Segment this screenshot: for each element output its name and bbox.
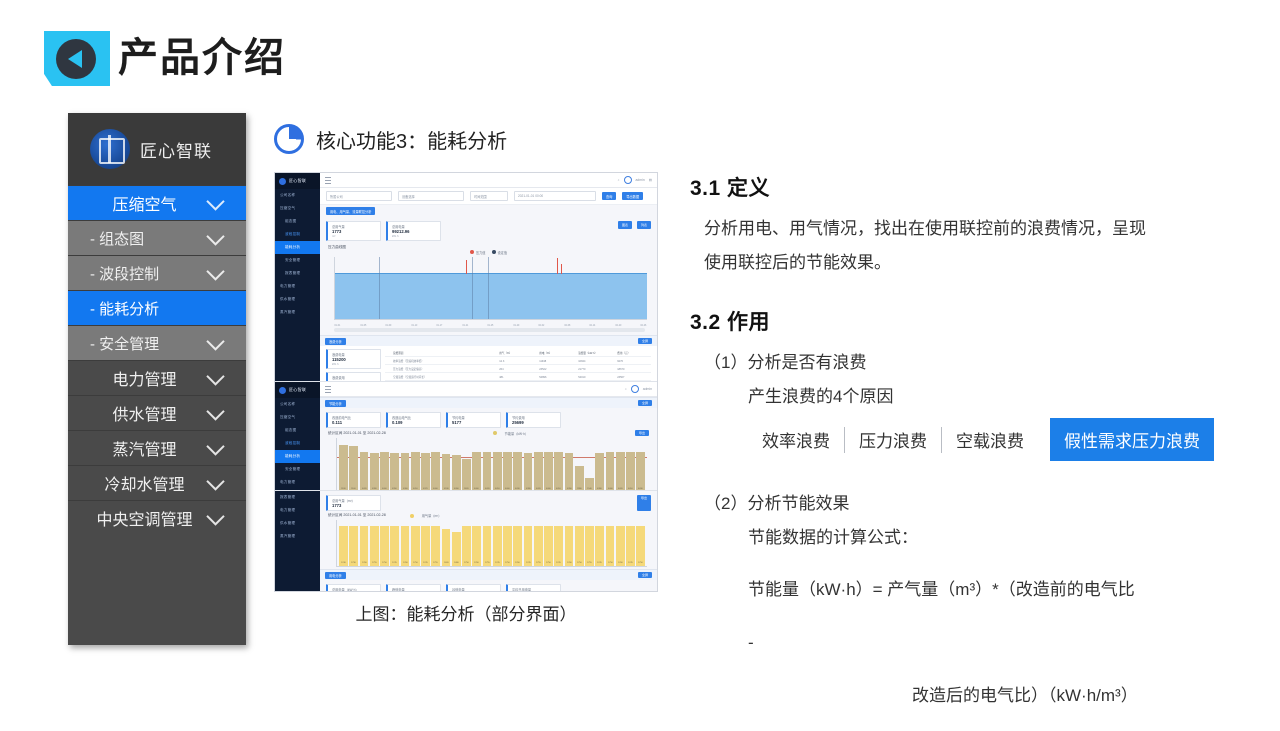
bar-value-label: 4420	[616, 487, 623, 490]
definition-line-1: 分析用电、用气情况，找出在使用联控前的浪费情况，呈现	[690, 212, 1250, 246]
app-nav-brand-label: 匠心智联	[289, 178, 306, 184]
bar: 1730	[349, 526, 358, 566]
bar-value-label: 5160	[350, 487, 357, 490]
bar-value-label: 4410	[411, 487, 418, 490]
user-label: admin	[636, 178, 645, 182]
waste-reason-idle[interactable]: 空载浪费	[942, 427, 1038, 452]
bar: 4400	[544, 452, 553, 491]
chevron-down-icon	[206, 472, 224, 490]
page-title: 产品介绍	[118, 33, 286, 83]
kpi-unit: m³	[332, 234, 376, 238]
waste-reason-false-demand[interactable]: 假性需求压力浪费	[1050, 418, 1214, 461]
company-select[interactable]: 所属公司	[326, 191, 392, 201]
bar: 4430	[513, 452, 522, 491]
sidebar-item-label: - 安全管理	[90, 333, 209, 354]
area-series	[335, 273, 647, 319]
column-header: 浪费原因	[389, 351, 490, 355]
power-section-tag[interactable]: 用电分析	[325, 572, 346, 579]
search-icon[interactable]: ⌕	[625, 387, 627, 391]
bar: 4400	[431, 452, 440, 491]
chevron-down-icon	[206, 262, 224, 280]
bar-value-label: 4380	[370, 487, 377, 490]
bar: 4410	[493, 452, 502, 491]
app-logo-icon	[279, 178, 286, 185]
kpi-card: 平均日用电量 29866	[506, 584, 561, 592]
app-nav-item[interactable]: 报表管理	[275, 491, 320, 504]
bar: 4420	[616, 452, 625, 491]
bar-value-label: 4400	[545, 487, 552, 490]
kpi-title: 平均日用电量	[512, 587, 556, 592]
sidebar-item-safety[interactable]: - 安全管理	[68, 325, 246, 360]
bar-value-label: 1745	[524, 561, 531, 564]
bar: 4410	[411, 452, 420, 491]
bar-value-label: 1750	[463, 561, 470, 564]
purpose-item-2-sub: 节能数据的计算公式：	[690, 521, 1250, 555]
formula-line-1: 节能量（kW·h）= 产气量（m³）*（改造前的电气比	[690, 572, 1250, 608]
kpi-card: 峰值电量 272	[386, 584, 441, 592]
waste-reason-pressure[interactable]: 压力浪费	[845, 427, 941, 452]
app-logo-icon	[279, 387, 286, 394]
chart-range-label: 统计区间 2021-01-01 至 2021-02-28	[328, 513, 386, 518]
saving-fullscreen-button[interactable]: 全屏	[638, 400, 652, 406]
bar-value-label: 4370	[422, 487, 429, 490]
waste-fullscreen-button[interactable]: 全屏	[638, 338, 652, 344]
kpi-card: 节约电量 5177	[446, 412, 501, 428]
bar-value-label: 1745	[596, 561, 603, 564]
section-heading-label: 核心功能3：能耗分析	[316, 125, 507, 154]
bar: 1750	[606, 526, 615, 566]
app-nav-item[interactable]: 组态图	[275, 215, 320, 228]
query-button[interactable]: 查询	[602, 192, 616, 200]
bar-value-label: 4400	[504, 487, 511, 490]
bar: 1750	[636, 526, 645, 566]
app-nav-item[interactable]: 供水管理	[275, 293, 320, 306]
bar-value-label: 1745	[493, 561, 500, 564]
avatar[interactable]	[631, 385, 639, 393]
kpi-card: 浪费费用 77654 元	[326, 372, 381, 382]
bar: 1745	[390, 526, 399, 566]
bar-value-label: 4430	[637, 487, 644, 490]
bar-value-label: 1745	[391, 561, 398, 564]
screenshot-pane-top: 匠心智联 公司名称 压缩空气 组态图 波段控制 能耗分析 安全管理 报表管理 电…	[275, 173, 657, 382]
search-icon[interactable]: ⌕	[618, 178, 620, 182]
kpi-card: 浪费电量 115200 kW·h	[326, 349, 381, 369]
kpi-value: 0.111	[332, 420, 376, 425]
bar: 4420	[360, 452, 369, 491]
saving-section-header: 节能分析 全屏	[320, 397, 657, 408]
power-section-header: 用电分析 全屏	[320, 569, 657, 580]
pressure-area-chart	[334, 257, 647, 320]
bar-value-label: 1740	[340, 561, 347, 564]
bar: 1755	[483, 526, 492, 566]
bar-value-label: 1760	[514, 561, 521, 564]
chevron-down-icon	[206, 367, 224, 385]
bar-value-label: 4400	[473, 487, 480, 490]
kpi-value: 1773	[332, 503, 376, 508]
app-nav-item[interactable]: 安全管理	[275, 463, 320, 476]
bar: 4180	[442, 454, 451, 491]
bar-value-label: 4380	[524, 487, 531, 490]
chart-title: 压力曲线图	[320, 243, 657, 250]
waste-reason-row: 效率浪费 压力浪费 空载浪费 假性需求压力浪费	[690, 418, 1250, 461]
kpi-card: 谷值电量 5994	[446, 584, 501, 592]
bar: 5160	[349, 446, 358, 491]
section-heading: 核心功能3：能耗分析	[274, 124, 507, 154]
gas-usage-bar-chart: 1740173017601755175017451760175017451755…	[336, 520, 647, 567]
app-nav-item[interactable]: 公司名称	[275, 398, 320, 411]
bar: 1620	[442, 529, 451, 566]
bar-value-label: 4400	[606, 487, 613, 490]
bar-value-label: 1755	[586, 561, 593, 564]
app-nav-item[interactable]: 波段控制	[275, 437, 320, 450]
waste-section-tag[interactable]: 浪费分析	[325, 338, 346, 345]
kpi-unit: kW·h	[392, 234, 436, 238]
bar-value-label: 1760	[565, 561, 572, 564]
kpi-row-5: 总用电量（kW·h） 11200 峰值电量 272 谷值电量 5994 平均日用…	[320, 580, 657, 592]
sidebar-item-band-control[interactable]: - 波段控制	[68, 255, 246, 290]
purpose-item-1-sub: 产生浪费的4个原因	[690, 380, 1250, 414]
bar: 1760	[472, 526, 481, 566]
bar-value-label: 1745	[555, 561, 562, 564]
avatar[interactable]	[624, 176, 632, 184]
kpi-card: 总用气量 1773 m³	[326, 221, 381, 241]
bar: 4400	[503, 452, 512, 491]
bar-value-label: 4430	[514, 487, 521, 490]
bar: 1760	[565, 526, 574, 566]
bar-value-label: 1750	[504, 561, 511, 564]
app-nav-item-selected[interactable]: 能耗分析	[275, 241, 320, 254]
bar: 4380	[595, 453, 604, 491]
bar: 1745	[554, 526, 563, 566]
sidebar-brand-label: 匠心智联	[140, 137, 212, 162]
sidebar-item-label: - 组态图	[90, 228, 209, 249]
kpi-value: 5177	[452, 420, 496, 425]
bar-value-label: 1745	[627, 561, 634, 564]
bar: 1760	[513, 526, 522, 566]
bar: 1745	[421, 526, 430, 566]
purpose-item-2: （2）分析节能效果	[690, 487, 1250, 521]
saving-section-tag[interactable]: 节能分析	[325, 400, 346, 407]
bar-value-label: 1755	[370, 561, 377, 564]
bar-value-label: 1760	[360, 561, 367, 564]
bar: 4370	[421, 453, 430, 491]
bar-value-label: 1760	[401, 561, 408, 564]
bar: 1750	[575, 526, 584, 566]
bar: 4400	[606, 452, 615, 491]
app-body: 总用气量（m³） 1773 导出 统计区间 2021-01-01 至 2021-…	[320, 491, 657, 592]
bar: 1755	[534, 526, 543, 566]
energy-analysis-screenshot: 匠心智联 公司名称 压缩空气 组态图 波段控制 能耗分析 安全管理 报表管理 电…	[274, 172, 658, 592]
kpi-row-3b: 改造前电气比 0.111 改造后电气比 0.109 节约电量 5177 节约费用…	[320, 408, 657, 430]
bar-value-label: 4420	[534, 487, 541, 490]
chevron-down-icon	[206, 402, 224, 420]
bar-value-label: 4400	[381, 487, 388, 490]
kpi-card: 总用气量（m³） 1773	[326, 495, 381, 511]
app-nav-item[interactable]: 电力管理	[275, 476, 320, 489]
chart-toggle-button-b[interactable]: 列表	[637, 221, 651, 229]
app-nav-item[interactable]: 报表管理	[275, 267, 320, 280]
bar: 4410	[626, 452, 635, 491]
pie-chart-icon	[274, 124, 304, 154]
chart-export-button[interactable]: 导出	[637, 495, 651, 511]
bar-value-label: 1760	[616, 561, 623, 564]
kpi-card: 节约费用 25699	[506, 412, 561, 428]
bar: 2880	[575, 466, 584, 491]
table-row: 效率浪费（压缩机效率低） 12.3 11948 10844 9276	[385, 357, 651, 365]
kpi-card: 改造后电气比 0.109	[386, 412, 441, 428]
sidebar-item-label: - 能耗分析	[90, 298, 230, 319]
bar: 1745	[626, 526, 635, 566]
table-row: 压力浪费（压力设定偏高） 264 23522 21770 18670	[385, 365, 651, 373]
bar-value-label: 1755	[534, 561, 541, 564]
bar-value-label: 4420	[360, 487, 367, 490]
brand-logo-icon	[90, 129, 130, 169]
screenshot-caption: 上图：能耗分析（部分界面）	[274, 600, 658, 625]
sidebar-item-label: 中央空调管理	[86, 506, 209, 530]
bar: 1760	[360, 526, 369, 566]
sidebar-item-label: 冷却水管理	[86, 471, 209, 495]
formula-line-2: -	[690, 625, 1250, 661]
screenshot-pane-bottom: 报表管理 电力管理 供水管理 蒸汽管理 总用气量（m³） 1773 导出 统计区…	[275, 491, 657, 592]
bar: 1755	[431, 526, 440, 566]
back-badge[interactable]	[44, 31, 110, 86]
bar-value-label: 4400	[432, 487, 439, 490]
bar-value-label: 4390	[391, 487, 398, 490]
sidebar-item-label: 供水管理	[86, 401, 209, 425]
bar: 1750	[411, 526, 420, 566]
kpi-card: 总用电量（kW·h） 11200	[326, 584, 381, 592]
sidebar-item-cooling-water[interactable]: 冷却水管理	[68, 465, 246, 500]
sidebar-item-hvac[interactable]: 中央空调管理	[68, 500, 246, 535]
bar: 1760	[616, 526, 625, 566]
content-column: 3.1 定义 分析用电、用气情况，找出在使用联控前的浪费情况，呈现 使用联控后的…	[690, 172, 1250, 731]
bar-value-label: 1750	[411, 561, 418, 564]
app-nav-item[interactable]: 压缩空气	[275, 202, 320, 215]
bar: 1540	[585, 478, 594, 491]
bell-icon[interactable]: ▤	[649, 178, 652, 182]
app-nav-brand-label: 匠心智联	[289, 387, 306, 393]
power-fullscreen-button[interactable]: 全屏	[638, 572, 652, 578]
heading-definition: 3.1 定义	[690, 172, 1250, 202]
bar: 4420	[483, 452, 492, 491]
bar-value-label: 4410	[493, 487, 500, 490]
bar-value-label: 4090	[452, 487, 459, 490]
sidebar-item-label: 压缩空气	[86, 191, 209, 215]
app-nav-item[interactable]: 电力管理	[275, 280, 320, 293]
app-nav-item[interactable]: 公司名称	[275, 189, 320, 202]
bar: 1745	[524, 526, 533, 566]
chart-legend: 压力值 设定值	[320, 250, 657, 255]
bar: 5180	[339, 445, 348, 491]
bar: 4380	[370, 453, 379, 491]
bar-value-label: 4420	[483, 487, 490, 490]
waste-table: 浪费原因 用气（%） 用电（%） 浪费量（kW·h） 费用（元） 效率浪费（压缩…	[385, 349, 651, 382]
app-nav: 匠心智联 公司名称 压缩空气 组态图 波段控制 能耗分析 安全管理 报表管理 电…	[275, 173, 320, 381]
bar: 4410	[554, 452, 563, 491]
app-nav-item[interactable]: 电力管理	[275, 504, 320, 517]
user-label: admin	[643, 387, 652, 391]
app-nav-item[interactable]: 组态图	[275, 424, 320, 437]
kpi-unit: kW·h	[332, 362, 376, 366]
heading-purpose: 3.2 作用	[690, 306, 1250, 336]
bar: 4360	[401, 453, 410, 491]
bar: 4390	[565, 453, 574, 492]
chart-toggle-button-a[interactable]: 图表	[618, 221, 632, 229]
bar-value-label: 1480	[452, 561, 459, 564]
sidebar-item-power[interactable]: 电力管理	[68, 360, 246, 395]
chevron-down-icon	[206, 192, 224, 210]
kpi-row-4: 总用气量（m³） 1773 导出	[320, 491, 657, 513]
bar-value-label: 2880	[575, 487, 582, 490]
x-axis-ticks: 01-0101-0501-09 01-1301-1701-21 01-2501-…	[320, 323, 657, 327]
bar-value-label: 1750	[637, 561, 644, 564]
bar-value-label: 1620	[442, 561, 449, 564]
table-row: 空载浪费（空载运行时间长） 481 54896 54010 23567	[385, 373, 651, 381]
bar: 1745	[493, 526, 502, 566]
app-nav-item-selected[interactable]: 能耗分析	[275, 450, 320, 463]
sidebar-item-compressed-air[interactable]: 压缩空气	[68, 185, 246, 220]
sidebar-brand: 匠心智联	[68, 113, 246, 185]
bar-value-label: 4180	[442, 487, 449, 490]
column-header: 用电（%）	[535, 351, 571, 355]
app-nav-brand: 匠心智联	[275, 173, 320, 189]
waste-section-header: 浪费分析 全屏	[320, 335, 657, 346]
app-nav: 匠心智联 公司名称 压缩空气 组态图 波段控制 能耗分析 安全管理 电力管理 供…	[275, 382, 320, 490]
bar: 4390	[390, 453, 399, 492]
device-select[interactable]: 设备选择	[398, 191, 464, 201]
screenshot-pane-middle: 匠心智联 公司名称 压缩空气 组态图 波段控制 能耗分析 安全管理 电力管理 供…	[275, 382, 657, 491]
bar: 1745	[595, 526, 604, 566]
bar-value-label: 4410	[627, 487, 634, 490]
bar: 1480	[452, 532, 461, 566]
chart-legend: 节能量（kW·h）	[493, 431, 528, 436]
purpose-item-1: （1）分析是否有浪费	[690, 346, 1250, 380]
bar: 4400	[380, 452, 389, 491]
date-range-input[interactable]: 2021-01-01 00:00	[514, 191, 596, 201]
definition-line-2: 使用联控后的节能效果。	[690, 246, 1250, 280]
app-nav-item[interactable]: 供水管理	[275, 517, 320, 530]
kpi-title: 峰值电量	[392, 587, 436, 592]
legend-item: 设定值	[492, 250, 508, 255]
export-button[interactable]: 导出数据	[622, 192, 643, 200]
sidebar-item-scada[interactable]: - 组态图	[68, 220, 246, 255]
app-nav-item[interactable]: 安全管理	[275, 254, 320, 267]
sidebar-item-label: 电力管理	[86, 366, 209, 390]
bar-value-label: 4380	[596, 487, 603, 490]
sidebar-item-label: - 波段控制	[90, 263, 209, 284]
app-body: ⌕ admin 节能分析 全屏 改造前电气比 0.111 改造后电气比 0.10…	[320, 382, 657, 490]
kpi-title: 谷值电量	[452, 587, 496, 592]
bar: 1750	[503, 526, 512, 566]
sidebar-item-steam[interactable]: 蒸汽管理	[68, 430, 246, 465]
column-header: 用气（%）	[496, 351, 532, 355]
saving-bar-chart: 5180516044204380440043904360441043704400…	[336, 438, 647, 491]
bar: 1750	[380, 526, 389, 566]
app-topbar: ⌕ admin ▤	[320, 173, 657, 188]
app-nav-item[interactable]: 蒸汽管理	[275, 530, 320, 543]
bar: 1755	[370, 526, 379, 566]
bar-value-label: 1750	[381, 561, 388, 564]
legend-item: 压力值	[470, 250, 486, 255]
bar-value-label: 1750	[575, 561, 582, 564]
bar-value-label: 1540	[586, 487, 593, 490]
slide-header: 产品介绍	[0, 0, 1280, 110]
kpi-card: 改造前电气比 0.111	[326, 412, 381, 428]
analysis-tab-row: 用电、用气量、流量联控分析	[320, 205, 657, 217]
chevron-down-icon	[206, 227, 224, 245]
bar-value-label: 1755	[483, 561, 490, 564]
chart-scrollbar[interactable]	[334, 328, 645, 332]
waste-reason-efficiency[interactable]: 效率浪费	[748, 427, 844, 452]
kpi-title: 总用电量（kW·h）	[332, 587, 376, 592]
bar-value-label: 1750	[545, 561, 552, 564]
bar-value-label: 1755	[432, 561, 439, 564]
bar-value-label: 1730	[350, 561, 357, 564]
kpi-value: 25699	[512, 420, 556, 425]
app-body: ⌕ admin ▤ 所属公司 设备选择 时间范围 2021-01-01 00:0…	[320, 173, 657, 381]
app-topbar: ⌕ admin	[320, 382, 657, 397]
app-nav-item[interactable]: 波段控制	[275, 228, 320, 241]
chevron-down-icon	[206, 437, 224, 455]
sidebar-item-energy-analysis[interactable]: - 能耗分析	[68, 290, 246, 325]
bar: 4420	[534, 452, 543, 491]
product-sidebar: 匠心智联 压缩空气 - 组态图 - 波段控制 - 能耗分析 - 安全管理 电力管…	[68, 113, 246, 645]
back-triangle-icon	[56, 39, 96, 79]
bar-value-label: 4410	[555, 487, 562, 490]
bar: 1750	[462, 526, 471, 566]
bar: 1740	[339, 526, 348, 566]
menu-toggle-icon[interactable]	[325, 177, 331, 184]
kpi-value: 0.109	[392, 420, 436, 425]
bar: 4400	[472, 452, 481, 491]
bar-value-label: 3620	[463, 487, 470, 490]
formula-line-3: 改造后的电气比）（kW·h/m³）	[690, 678, 1250, 714]
bar-value-label: 1760	[473, 561, 480, 564]
app-nav: 报表管理 电力管理 供水管理 蒸汽管理	[275, 491, 320, 592]
tab-linkage-analysis[interactable]: 用电、用气量、流量联控分析	[326, 207, 375, 215]
chart-export-button[interactable]: 导出	[635, 430, 649, 436]
filter-bar: 所属公司 设备选择 时间范围 2021-01-01 00:00 查询 导出数据	[320, 188, 657, 205]
kpi-card: 总用电量 99212.96 kW·h	[386, 221, 441, 241]
bar: 4090	[452, 455, 461, 491]
bar-value-label: 5180	[340, 487, 347, 490]
bar: 1750	[544, 526, 553, 566]
bar: 3620	[462, 459, 471, 491]
range-label: 时间范围	[470, 191, 508, 201]
chevron-down-icon	[206, 507, 224, 525]
app-nav-item[interactable]: 压缩空气	[275, 411, 320, 424]
sidebar-item-label: 蒸汽管理	[86, 436, 209, 460]
app-nav-item[interactable]: 蒸汽管理	[275, 306, 320, 319]
bar: 1760	[401, 526, 410, 566]
table-header-row: 浪费原因 用气（%） 用电（%） 浪费量（kW·h） 费用（元）	[385, 349, 651, 357]
bar-value-label: 4360	[401, 487, 408, 490]
chart-legend: 用气量（m³）	[410, 513, 442, 518]
kpi-row-1: 总用气量 1773 m³ 总用电量 99212.96 kW·h 图表 列表	[320, 217, 657, 243]
column-header: 费用（元）	[613, 351, 649, 355]
bar-value-label: 1745	[422, 561, 429, 564]
menu-toggle-icon[interactable]	[325, 386, 331, 393]
column-header: 浪费量（kW·h）	[574, 351, 610, 355]
chevron-down-icon	[206, 332, 224, 350]
bar-value-label: 1750	[606, 561, 613, 564]
bar: 4380	[524, 453, 533, 491]
bar-value-label: 4390	[565, 487, 572, 490]
sidebar-item-water[interactable]: 供水管理	[68, 395, 246, 430]
chart-range-label: 统计区间 2021-01-01 至 2021-02-28	[328, 431, 386, 436]
bar: 1755	[585, 526, 594, 566]
bar: 4430	[636, 452, 645, 491]
